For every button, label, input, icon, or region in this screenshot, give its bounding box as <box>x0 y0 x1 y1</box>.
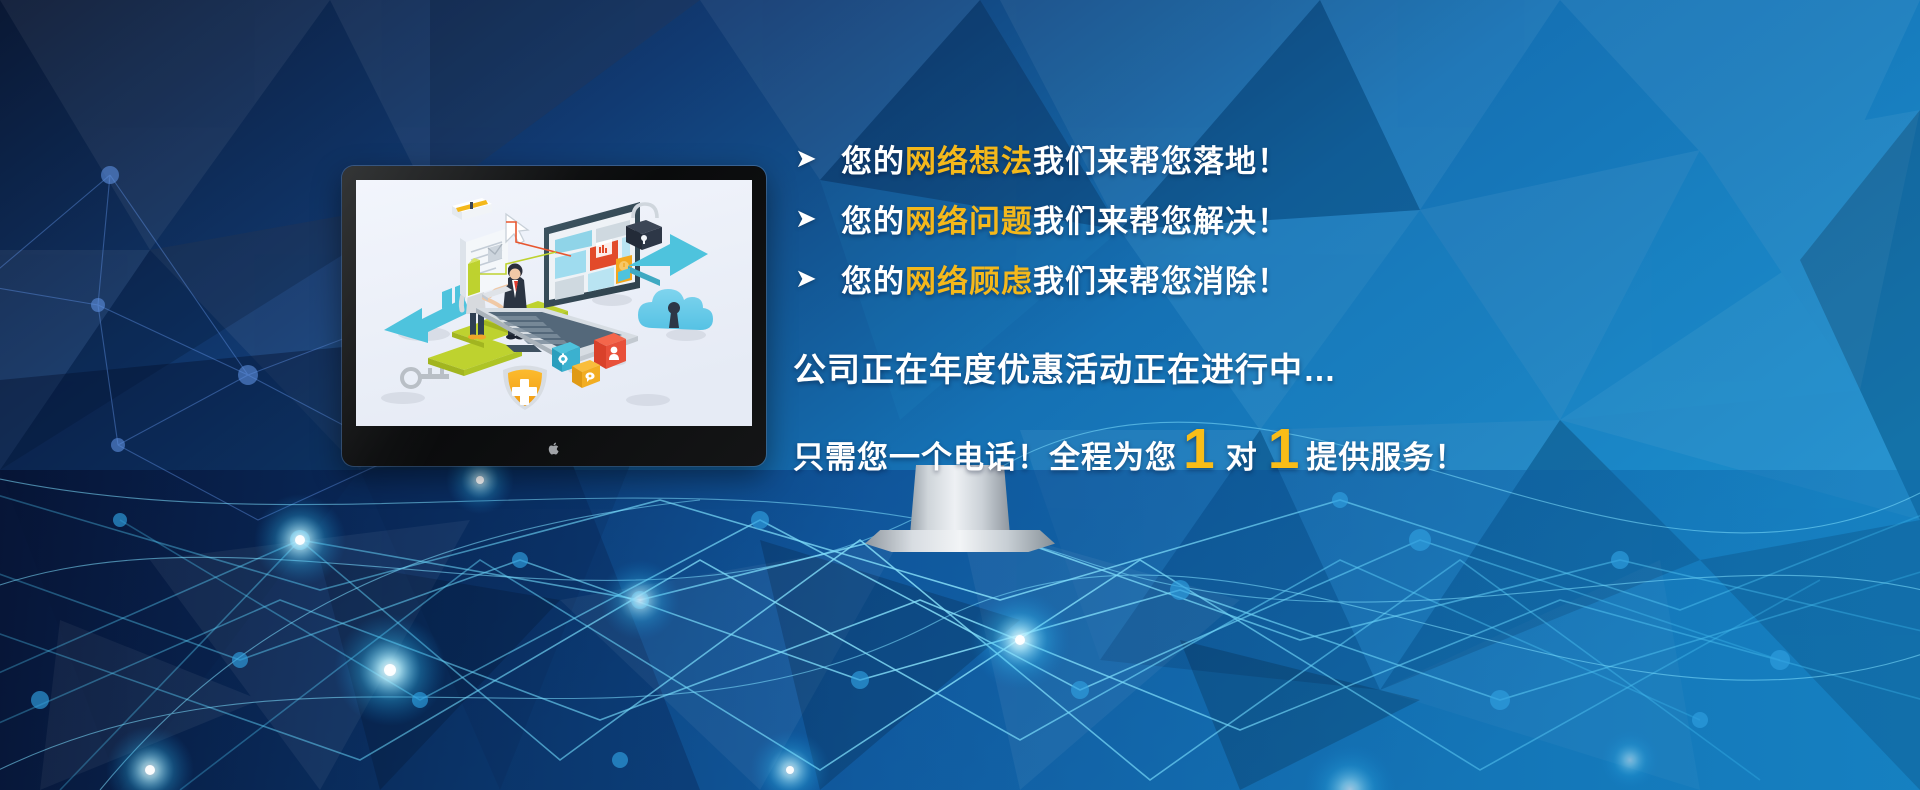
bullet-2-prefix: 您的 <box>841 204 905 239</box>
bullet-item-3: ➤ 您的网络顾虑我们来帮您消除！ <box>795 248 1845 308</box>
bullet-text-3: 您的网络顾虑我们来帮您消除！ <box>841 256 1289 301</box>
bullet-2-highlight: 网络问题 <box>905 204 1033 239</box>
promo-line-1: 公司正在年度优惠活动正在进行中… <box>793 343 1845 391</box>
bullet-item-1: ➤ 您的网络想法我们来帮您落地！ <box>795 128 1845 188</box>
bullet-3-highlight: 网络顾虑 <box>905 264 1033 299</box>
monitor-screen <box>356 180 752 426</box>
bullet-1-suffix: 我们来帮您落地！ <box>1033 144 1289 179</box>
promo-banner: ➤ 您的网络想法我们来帮您落地！ ➤ 您的网络问题我们来帮您解决！ ➤ 您的网络… <box>0 0 1920 790</box>
bullet-3-prefix: 您的 <box>841 264 905 299</box>
arrow-bullet-icon: ➤ <box>795 265 841 291</box>
bullet-2-suffix: 我们来帮您解决！ <box>1033 204 1289 239</box>
bullet-text-2: 您的网络问题我们来帮您解决！ <box>841 196 1289 241</box>
arrow-bullet-icon: ➤ <box>795 205 841 231</box>
banner-copy: ➤ 您的网络想法我们来帮您落地！ ➤ 您的网络问题我们来帮您解决！ ➤ 您的网络… <box>795 128 1845 477</box>
promo-line-2-mid: 对 <box>1222 432 1262 477</box>
promo-line-2: 只需您一个电话！全程为您 1 对 1 提供服务！ <box>793 427 1845 477</box>
isometric-security-scene <box>356 180 752 426</box>
bullet-text-1: 您的网络想法我们来帮您落地！ <box>841 136 1289 181</box>
monitor-stand-base <box>865 530 1055 552</box>
promo-number-one-first: 1 <box>1177 427 1222 473</box>
imac-monitor-illustration <box>342 166 766 466</box>
bullet-item-2: ➤ 您的网络问题我们来帮您解决！ <box>795 188 1845 248</box>
promo-line-2-tail: 提供服务！ <box>1306 432 1466 477</box>
promo-number-one-second: 1 <box>1262 427 1307 473</box>
bullet-1-prefix: 您的 <box>841 144 905 179</box>
bullet-3-suffix: 我们来帮您消除！ <box>1033 264 1289 299</box>
arrow-bullet-icon: ➤ <box>795 145 841 171</box>
promo-line-2-lead: 只需您一个电话！全程为您 <box>793 432 1177 477</box>
bullet-1-highlight: 网络想法 <box>905 144 1033 179</box>
apple-logo-icon <box>549 442 560 455</box>
